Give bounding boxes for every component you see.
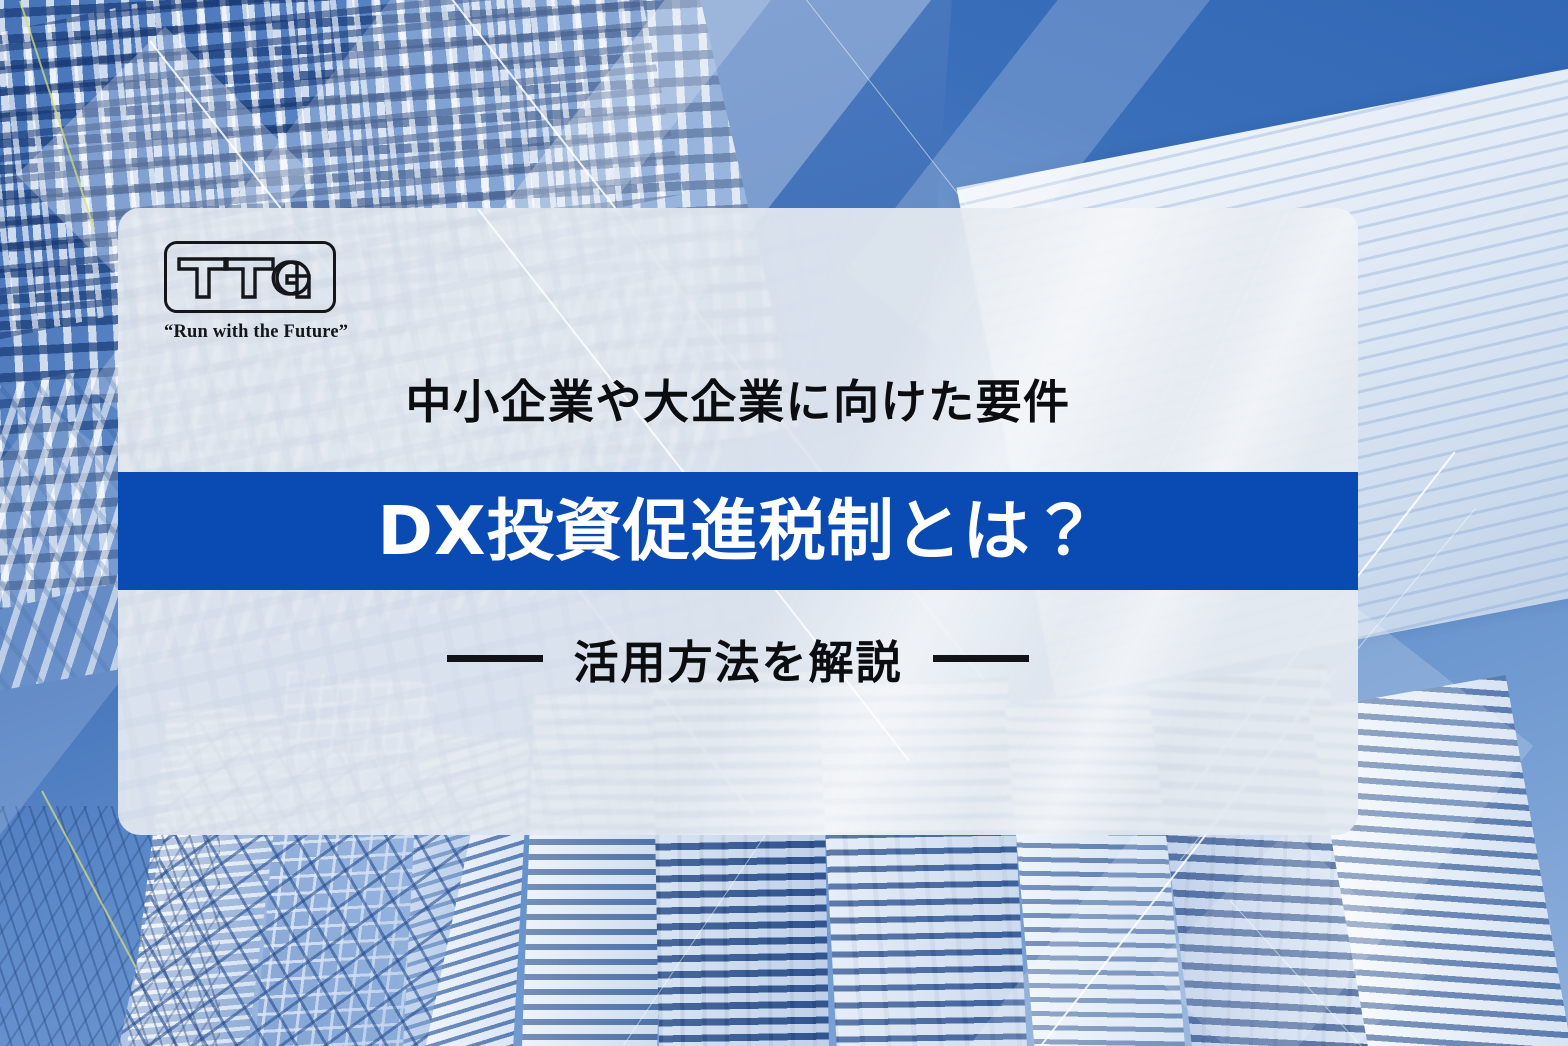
content-card: “Run with the Future” 中小企業や大企業に向けた要件 DX投… <box>118 208 1358 835</box>
brand-tagline: “Run with the Future” <box>164 322 340 343</box>
bare-tree <box>0 806 220 1046</box>
divider-dash-left <box>447 655 543 662</box>
title-band: DX投資促進税制とは？ <box>118 472 1358 590</box>
card-subtitle: 中小企業や大企業に向けた要件 <box>118 366 1358 432</box>
footer-text: 活用方法を解説 <box>573 626 902 691</box>
card-footer: 活用方法を解説 <box>118 623 1358 693</box>
poster-canvas: “Run with the Future” 中小企業や大企業に向けた要件 DX投… <box>0 0 1568 1046</box>
page-title: DX投資促進税制とは？ <box>377 498 1098 565</box>
ttg-logo-icon <box>164 241 336 313</box>
divider-dash-right <box>933 655 1029 662</box>
brand-logo: “Run with the Future” <box>164 241 464 343</box>
